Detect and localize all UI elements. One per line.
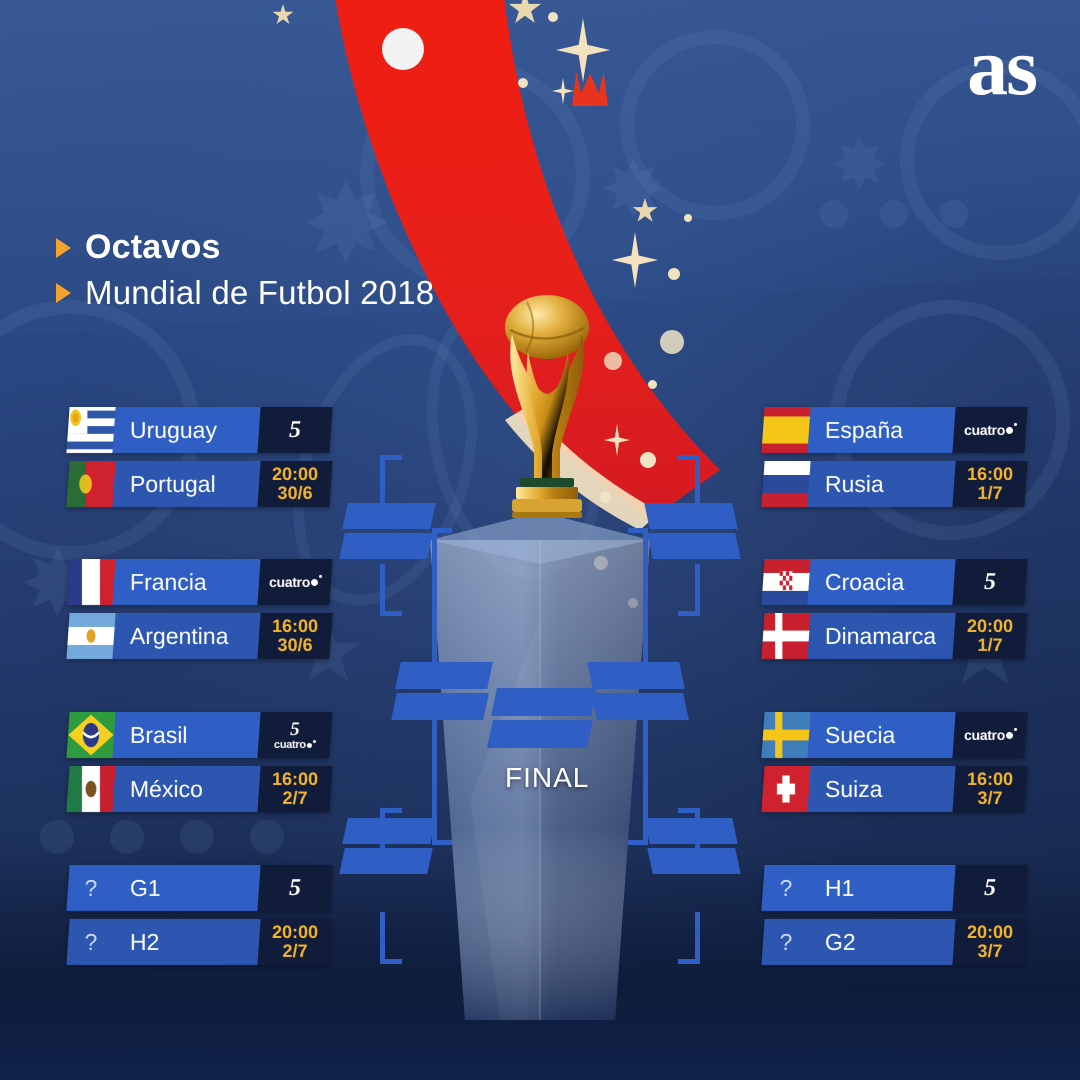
match-card[interactable]: Francia cuatro Argentina xyxy=(68,559,331,659)
channel-badge[interactable]: 5 xyxy=(257,865,332,911)
flag-placeholder: ? xyxy=(761,919,810,965)
match-time-badge: 20:00 1/7 xyxy=(952,613,1027,659)
quarterfinal-slot[interactable] xyxy=(342,818,436,844)
team-name-cell: España xyxy=(807,407,955,453)
team-name: Rusia xyxy=(825,471,884,498)
channel-badge[interactable]: cuatro xyxy=(952,712,1027,758)
flag-croacia xyxy=(761,559,810,605)
team-name: Croacia xyxy=(825,569,904,596)
final-label: FINAL xyxy=(505,762,589,794)
match-row-team1[interactable]: Francia cuatro xyxy=(66,559,332,605)
team-name: Suecia xyxy=(825,722,895,749)
title-line-primary: Octavos xyxy=(56,228,434,267)
match-card[interactable]: Croacia 5 Dinamarca 20:00 1/7 xyxy=(763,559,1026,659)
connector-line xyxy=(643,528,648,668)
match-date: 1/7 xyxy=(967,484,1013,503)
triangle-bullet-icon xyxy=(56,283,71,303)
connector-line xyxy=(432,528,437,668)
team-name: Uruguay xyxy=(130,417,217,444)
connector-line xyxy=(380,959,402,964)
team-name: Dinamarca xyxy=(825,623,936,650)
team-name: H1 xyxy=(825,875,854,902)
ribbon-white-dot xyxy=(382,28,424,70)
connector-line xyxy=(643,705,648,845)
connector-line xyxy=(678,959,700,964)
team-name-cell: Uruguay xyxy=(112,407,260,453)
sparkle-crown-red xyxy=(572,72,608,106)
team-name: México xyxy=(130,776,203,803)
match-row-team1[interactable]: España cuatro xyxy=(761,407,1027,453)
team-name: España xyxy=(825,417,903,444)
match-date: 3/7 xyxy=(967,942,1013,961)
match-row-team2[interactable]: Suiza 16:00 3/7 xyxy=(761,766,1027,812)
match-card[interactable]: ? G1 5 ? H2 20:00 2/7 xyxy=(68,865,331,965)
match-row-team2[interactable]: Dinamarca 20:00 1/7 xyxy=(761,613,1027,659)
semifinal-slot[interactable] xyxy=(591,693,689,720)
match-row-team1[interactable]: ? G1 5 xyxy=(66,865,332,911)
world-cup-trophy xyxy=(482,282,612,532)
team-name: Francia xyxy=(130,569,207,596)
match-date: 2/7 xyxy=(272,942,318,961)
match-time: 20:00 xyxy=(272,465,318,484)
connector-line xyxy=(678,808,700,813)
connector-line xyxy=(695,912,700,964)
channel-badge[interactable]: 5 xyxy=(257,407,332,453)
match-time-badge: 16:00 3/7 xyxy=(952,766,1027,812)
team-name-cell: G1 xyxy=(112,865,260,911)
connector-line xyxy=(380,611,402,616)
connector-line xyxy=(628,528,648,533)
team-name: G2 xyxy=(825,929,856,956)
title-tournament: Mundial de Futbol 2018 xyxy=(85,274,434,312)
team-name: Argentina xyxy=(130,623,228,650)
connector-line xyxy=(678,611,700,616)
flag-rusia xyxy=(761,461,810,507)
connector-line xyxy=(695,564,700,616)
flag-francia xyxy=(66,559,115,605)
team-name-cell: Brasil xyxy=(112,712,260,758)
match-row-team2[interactable]: Argentina 16:00 30/6 xyxy=(66,613,332,659)
match-card[interactable]: Brasil 5 cuatro México xyxy=(68,712,331,812)
connector-line xyxy=(432,705,437,845)
connector-line xyxy=(695,455,700,507)
flag-dinamarca xyxy=(761,613,810,659)
match-row-team2[interactable]: ? H2 20:00 2/7 xyxy=(66,919,332,965)
match-time: 20:00 xyxy=(967,617,1013,636)
team-name: Portugal xyxy=(130,471,216,498)
flag-argentina xyxy=(66,613,115,659)
telecinco-icon: 5 xyxy=(290,720,300,739)
match-card[interactable]: España cuatro Rusia 16: xyxy=(763,407,1026,507)
match-time: 16:00 xyxy=(967,465,1013,484)
quarterfinal-slot[interactable] xyxy=(339,848,433,874)
team-name-cell: Portugal xyxy=(112,461,260,507)
team-name-cell: México xyxy=(112,766,260,812)
team-name-cell: Suecia xyxy=(807,712,955,758)
connector-line xyxy=(432,528,452,533)
channel-badge[interactable]: 5 xyxy=(952,559,1027,605)
final-slot[interactable] xyxy=(491,688,597,716)
match-date: 2/7 xyxy=(272,789,318,808)
connector-line xyxy=(432,840,452,845)
team-name-cell: H2 xyxy=(112,919,260,965)
match-row-team2[interactable]: México 16:00 2/7 xyxy=(66,766,332,812)
match-time: 20:00 xyxy=(272,923,318,942)
match-time-badge: 20:00 30/6 xyxy=(257,461,332,507)
team-name: G1 xyxy=(130,875,161,902)
flag-placeholder: ? xyxy=(761,865,810,911)
quarterfinal-slot[interactable] xyxy=(647,533,741,559)
match-date: 3/7 xyxy=(967,789,1013,808)
team-name-cell: Argentina xyxy=(112,613,260,659)
flag-espana xyxy=(761,407,810,453)
semifinal-slot[interactable] xyxy=(395,662,493,689)
cuatro-icon: cuatro xyxy=(269,575,322,589)
flag-uruguay xyxy=(66,407,115,453)
cuatro-icon: cuatro xyxy=(964,423,1017,437)
sparkle-dot xyxy=(648,380,657,389)
match-date: 30/6 xyxy=(272,484,318,503)
semifinal-slot[interactable] xyxy=(391,693,489,720)
team-name: Suiza xyxy=(825,776,883,803)
match-row-team1[interactable]: Uruguay 5 xyxy=(66,407,332,453)
match-row-team1[interactable]: Suecia cuatro xyxy=(761,712,1027,758)
page-title: Octavos Mundial de Futbol 2018 xyxy=(56,228,434,312)
match-time-badge: 20:00 3/7 xyxy=(952,919,1027,965)
channel-badge[interactable]: cuatro xyxy=(257,559,332,605)
semifinal-slot[interactable] xyxy=(587,662,685,689)
match-row-team2[interactable]: Portugal 20:00 30/6 xyxy=(66,461,332,507)
team-name-cell: Rusia xyxy=(807,461,955,507)
flag-suecia xyxy=(761,712,810,758)
telecinco-icon: 5 xyxy=(289,418,301,442)
telecinco-icon: 5 xyxy=(289,876,301,900)
telecinco-icon: 5 xyxy=(984,570,996,594)
triangle-bullet-icon xyxy=(56,238,71,258)
connector-line xyxy=(380,808,402,813)
match-time-badge: 16:00 2/7 xyxy=(257,766,332,812)
quarterfinal-slot[interactable] xyxy=(647,848,741,874)
match-row-team2[interactable]: ? G2 20:00 3/7 xyxy=(761,919,1027,965)
match-date: 30/6 xyxy=(272,636,318,655)
quarterfinal-slot[interactable] xyxy=(644,503,738,529)
team-name-cell: Croacia xyxy=(807,559,955,605)
team-name-cell: H1 xyxy=(807,865,955,911)
match-date: 1/7 xyxy=(967,636,1013,655)
connector-line xyxy=(678,455,700,460)
sparkle-dot xyxy=(548,12,558,22)
match-time: 20:00 xyxy=(967,923,1013,942)
match-card[interactable]: ? H1 5 ? G2 20:00 3/7 xyxy=(763,865,1026,965)
final-slot[interactable] xyxy=(487,720,593,748)
sparkle-dot xyxy=(684,214,692,222)
connector-line xyxy=(380,455,402,460)
telecinco-icon: 5 xyxy=(984,876,996,900)
quarterfinal-slot[interactable] xyxy=(342,503,436,529)
match-time: 16:00 xyxy=(272,617,318,636)
match-time: 16:00 xyxy=(272,770,318,789)
connector-line xyxy=(628,840,648,845)
connector-line xyxy=(380,455,385,507)
match-row-team1[interactable]: Croacia 5 xyxy=(761,559,1027,605)
channel-badge[interactable]: 5 cuatro xyxy=(257,712,332,758)
sparkle-dot xyxy=(640,452,656,468)
cuatro-icon: cuatro xyxy=(274,740,316,751)
match-row-team1[interactable]: Brasil 5 cuatro xyxy=(66,712,332,758)
team-name-cell: Dinamarca xyxy=(807,613,955,659)
unknown-team-marker: ? xyxy=(763,929,809,956)
title-line-secondary: Mundial de Futbol 2018 xyxy=(56,274,434,312)
match-time-badge: 16:00 30/6 xyxy=(257,613,332,659)
title-stage: Octavos xyxy=(85,228,221,267)
team-name-cell: G2 xyxy=(807,919,955,965)
match-time-badge: 20:00 2/7 xyxy=(257,919,332,965)
connector-line xyxy=(380,912,385,964)
sparkle-dot xyxy=(518,78,528,88)
flag-suiza xyxy=(761,766,810,812)
flag-placeholder: ? xyxy=(66,865,115,911)
channel-badge[interactable]: cuatro xyxy=(952,407,1027,453)
flag-placeholder: ? xyxy=(66,919,115,965)
flag-brasil xyxy=(66,712,115,758)
as-logo[interactable]: as xyxy=(967,26,1036,108)
unknown-team-marker: ? xyxy=(68,875,114,902)
team-name-cell: Suiza xyxy=(807,766,955,812)
flag-portugal xyxy=(66,461,115,507)
connector-line xyxy=(380,564,385,616)
match-row-team2[interactable]: Rusia 16:00 1/7 xyxy=(761,461,1027,507)
quarterfinal-slot[interactable] xyxy=(644,818,738,844)
channel-badge[interactable]: 5 xyxy=(952,865,1027,911)
cuatro-icon: cuatro xyxy=(964,728,1017,742)
sparkle-dot xyxy=(668,268,680,280)
match-row-team1[interactable]: ? H1 5 xyxy=(761,865,1027,911)
quarterfinal-slot[interactable] xyxy=(339,533,433,559)
match-card[interactable]: Suecia cuatro Suiza 16: xyxy=(763,712,1026,812)
unknown-team-marker: ? xyxy=(68,929,114,956)
team-name: Brasil xyxy=(130,722,188,749)
sparkle-dot xyxy=(660,330,684,354)
team-name: H2 xyxy=(130,929,159,956)
flag-mexico xyxy=(66,766,115,812)
team-name-cell: Francia xyxy=(112,559,260,605)
match-time: 16:00 xyxy=(967,770,1013,789)
match-card[interactable]: Uruguay 5 Portugal 20:00 30/6 xyxy=(68,407,331,507)
match-time-badge: 16:00 1/7 xyxy=(952,461,1027,507)
unknown-team-marker: ? xyxy=(763,875,809,902)
